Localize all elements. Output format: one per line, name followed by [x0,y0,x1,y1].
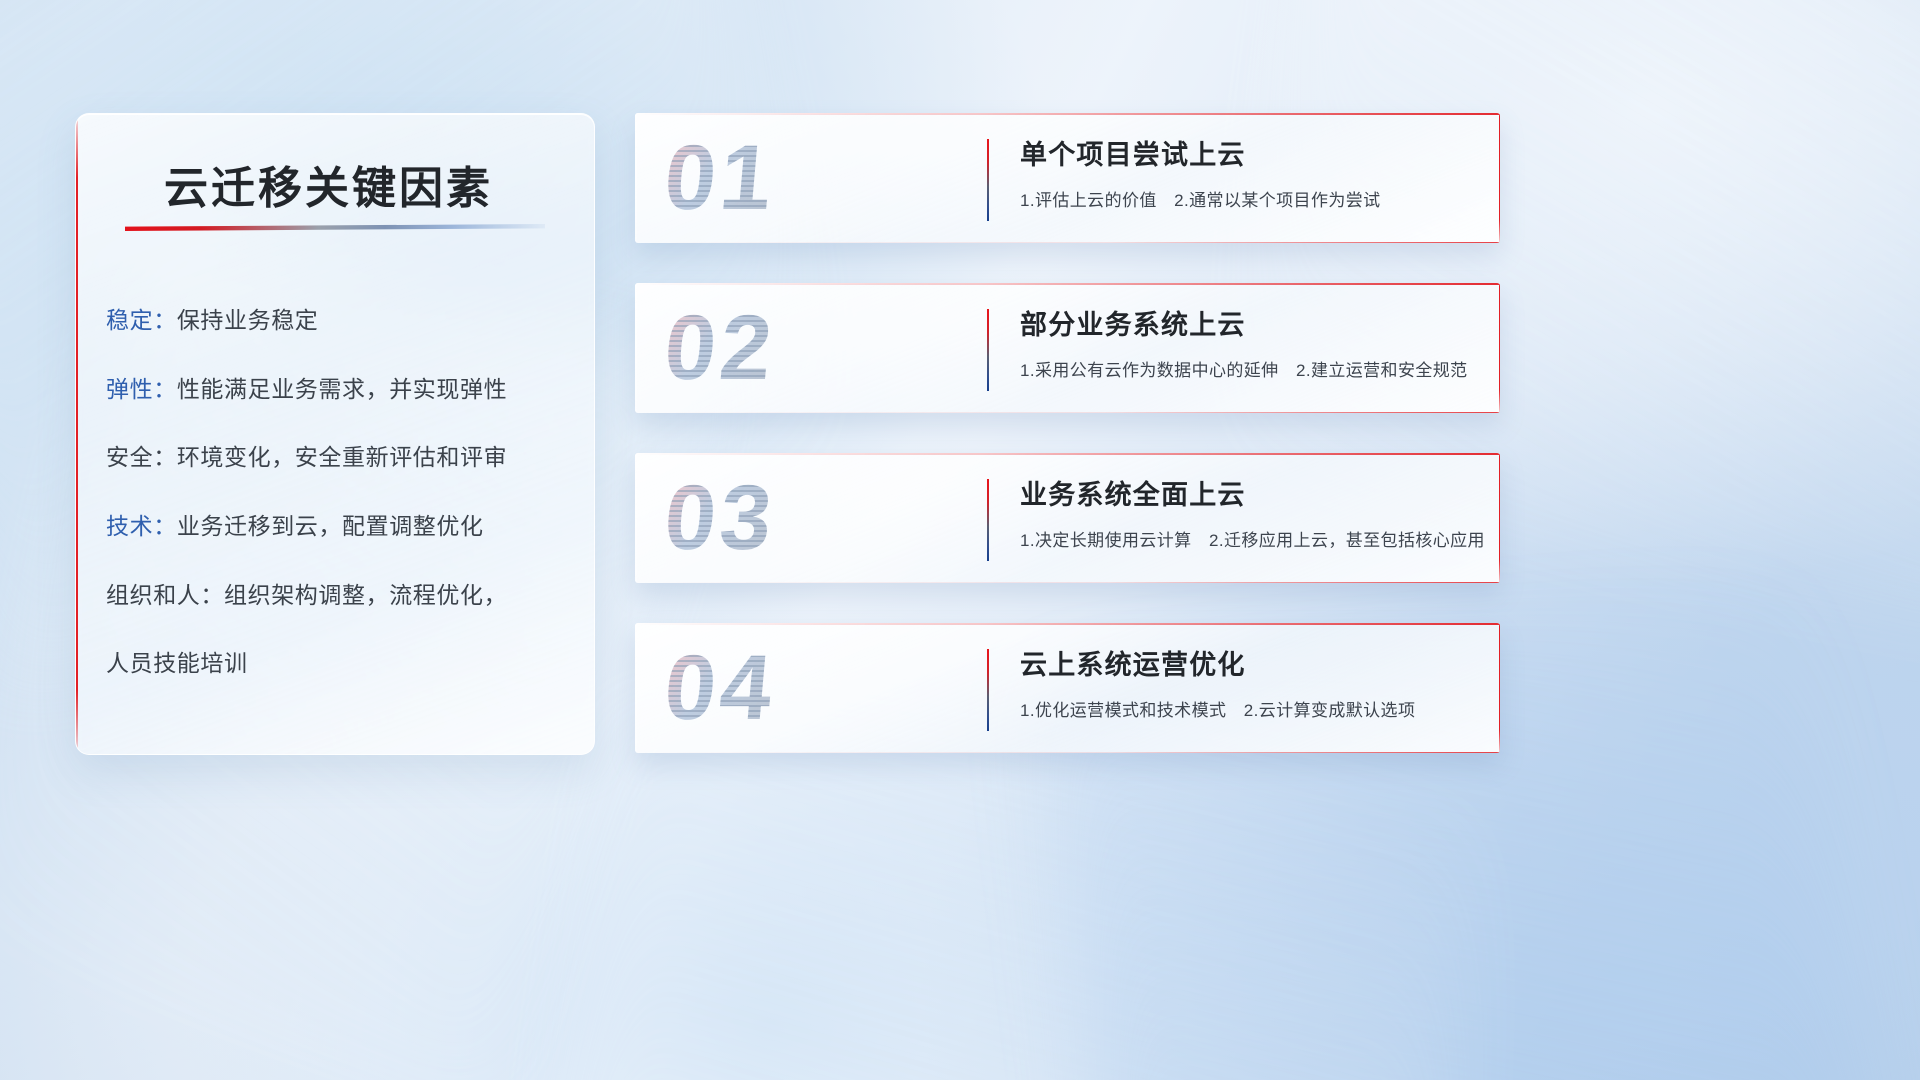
stage-divider-bar [987,309,989,391]
stage-divider-bar [987,649,989,731]
card-border-top [635,113,1500,115]
card-border-top [635,453,1500,455]
page-title: 云迁移关键因素 [164,152,493,216]
stage-title: 单个项目尝试上云 [1020,133,1246,172]
key-factor-label: 安全： [106,444,177,470]
key-factor-label: 稳定： [106,307,177,333]
key-factor-label: 技术： [106,513,177,539]
key-factors-panel: 云迁移关键因素 稳定：保持业务稳定弹性：性能满足业务需求，并实现弹性安全：环境变… [75,113,595,755]
stage-subtitle: 1.采用公有云作为数据中心的延伸 2.建立运营和安全规范 [1020,356,1468,381]
card-border-left [635,453,637,583]
stage-subtitle: 1.优化运营模式和技术模式 2.云计算变成默认选项 [1020,696,1415,721]
stage-title: 部分业务系统上云 [1020,303,1246,342]
key-factor-label: 组织和人： [106,582,224,608]
stage-number-watermark: 01 [660,125,869,231]
stage-card[interactable]: 04云上系统运营优化1.优化运营模式和技术模式 2.云计算变成默认选项 [635,623,1500,753]
key-factor-row: 组织和人：组织架构调整，流程优化， [106,579,576,612]
key-factor-row: 安全：环境变化，安全重新评估和评审 [106,441,576,474]
key-factor-label: 弹性： [106,376,177,402]
card-border-left [635,283,637,413]
card-border-right [1499,453,1501,583]
slide-stage: 云迁移关键因素 稳定：保持业务稳定弹性：性能满足业务需求，并实现弹性安全：环境变… [0,0,1920,1080]
card-border-right [1499,283,1501,413]
card-border-right [1499,623,1501,753]
stage-card[interactable]: 01单个项目尝试上云1.评估上云的价值 2.通常以某个项目作为尝试 [635,113,1500,243]
card-border-top [635,623,1500,625]
card-border-left [635,623,637,753]
key-factor-row: 技术：业务迁移到云，配置调整优化 [106,510,576,543]
stage-divider-bar [987,139,989,221]
key-factor-text: 组织架构调整，流程优化， [224,582,507,608]
card-border-bottom [635,242,1500,244]
stage-title: 业务系统全面上云 [1020,473,1246,512]
key-factor-text: 保持业务稳定 [177,307,319,333]
card-border-top [635,283,1500,285]
stage-number-watermark: 03 [660,465,869,571]
stage-divider-bar [987,479,989,561]
key-factor-row: 稳定：保持业务稳定 [106,304,576,337]
key-factors-list: 稳定：保持业务稳定弹性：性能满足业务需求，并实现弹性安全：环境变化，安全重新评估… [106,304,576,716]
card-border-left [635,113,637,243]
stage-card[interactable]: 03业务系统全面上云1.决定长期使用云计算 2.迁移应用上云，甚至包括核心应用 [635,453,1500,583]
stage-subtitle: 1.评估上云的价值 2.通常以某个项目作为尝试 [1020,186,1381,211]
key-factor-text: 环境变化，安全重新评估和评审 [177,444,507,470]
card-border-bottom [635,412,1500,414]
stage-number-watermark: 02 [660,295,869,401]
stage-card[interactable]: 02部分业务系统上云1.采用公有云作为数据中心的延伸 2.建立运营和安全规范 [635,283,1500,413]
card-border-bottom [635,582,1500,584]
key-factor-row: 弹性：性能满足业务需求，并实现弹性 [106,373,576,406]
stage-title: 云上系统运营优化 [1020,643,1246,682]
card-border-bottom [635,752,1500,754]
stage-subtitle: 1.决定长期使用云计算 2.迁移应用上云，甚至包括核心应用 [1020,526,1485,551]
key-factor-text: 业务迁移到云，配置调整优化 [177,513,484,539]
key-factor-text: 人员技能培训 [106,650,248,676]
title-gradient-rule [125,224,545,231]
card-border-right [1499,113,1501,243]
panel-left-accent-bar [76,114,78,754]
key-factor-row: 人员技能培训 [106,647,576,680]
key-factor-text: 性能满足业务需求，并实现弹性 [177,376,507,402]
stage-number-watermark: 04 [660,635,869,741]
